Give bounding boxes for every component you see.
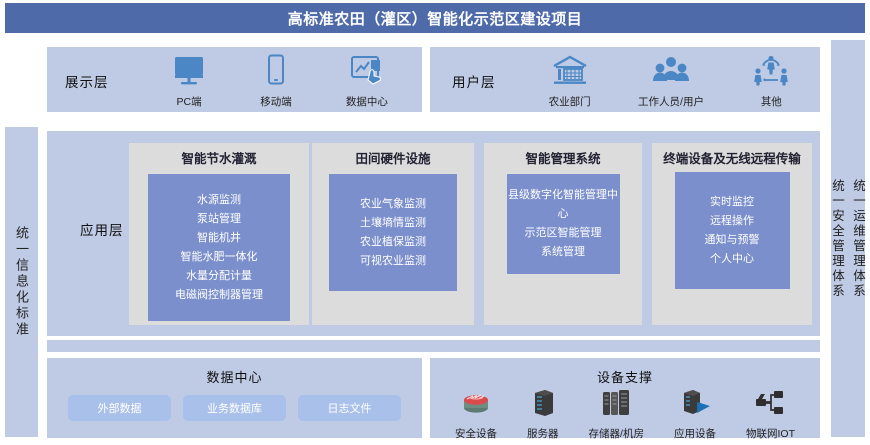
device-item-iot[interactable]: 物联网IOT [746, 388, 795, 441]
user-item-agri-dept[interactable]: 农业部门 [549, 54, 591, 109]
server-icon [528, 388, 558, 423]
app-item[interactable]: 远程操作 [710, 212, 754, 231]
app-item[interactable]: 可视农业监测 [360, 252, 426, 271]
device-item-security-label: 安全设备 [455, 426, 497, 441]
mobile-phone-icon [264, 54, 288, 91]
presentation-item-pc[interactable]: PC端 [172, 54, 206, 109]
device-support-icon-row: 安全设备 服务器 存储器/机房 [430, 388, 820, 441]
app-item[interactable]: 县级数字化智能管理中心 [507, 186, 620, 224]
app-group-management-system: 智能管理系统 县级数字化智能管理中心 示范区智能管理 系统管理 [484, 143, 642, 325]
presentation-item-pc-label: PC端 [177, 94, 202, 109]
app-group-management-system-title: 智能管理系统 [484, 143, 642, 167]
layer-divider-band [47, 340, 820, 352]
presentation-layer-label: 展示层 [65, 71, 109, 91]
app-group-smart-irrigation: 智能节水灌溉 水源监测 泵站管理 智能机井 智能水肥一体化 水量分配计量 电磁阀… [129, 143, 309, 325]
people-cycle-icon [751, 54, 791, 91]
app-group-terminal-transmission-title: 终端设备及无线远程传输 [652, 143, 812, 167]
app-item[interactable]: 个人中心 [710, 250, 754, 269]
app-item[interactable]: 智能水肥一体化 [181, 248, 258, 267]
user-item-other[interactable]: 其他 [751, 54, 791, 109]
page-title: 高标准农田（灌区）智能化示范区建设项目 [5, 3, 865, 33]
app-item[interactable]: 电磁阀控制器管理 [175, 286, 263, 305]
app-item[interactable]: 农业气象监测 [360, 195, 426, 214]
device-item-application-label: 应用设备 [674, 426, 716, 441]
security-management-label: 统一安全管理体系 [828, 179, 847, 299]
firewall-icon [459, 388, 493, 423]
government-building-icon [550, 54, 590, 91]
device-support-title: 设备支撑 [430, 358, 820, 386]
dashboard-touch-icon [350, 54, 384, 91]
right-management-bar: 统一安全管理体系 统一运维管理体系 [831, 40, 865, 437]
user-layer-panel: 用户层 农业部门 [430, 47, 820, 112]
data-center-chip-business-db[interactable]: 业务数据库 [183, 395, 286, 421]
presentation-icon-row: PC端 移动端 数据中心 [145, 53, 415, 109]
app-group-smart-irrigation-items: 水源监测 泵站管理 智能机井 智能水肥一体化 水量分配计量 电磁阀控制器管理 [148, 174, 290, 321]
app-item[interactable]: 农业植保监测 [360, 233, 426, 252]
user-icon-row: 农业部门 工作人员/用户 [525, 53, 815, 109]
application-layer-label: 应用层 [80, 219, 124, 239]
app-item[interactable]: 泵站管理 [197, 210, 241, 229]
user-item-other-label: 其他 [761, 94, 782, 109]
app-group-field-hardware-items: 农业气象监测 土壤墒情监测 农业植保监测 可视农业监测 [329, 174, 457, 291]
operations-management-label: 统一运维管理体系 [849, 179, 868, 299]
user-group-icon [651, 54, 691, 91]
app-group-field-hardware: 田间硬件设施 农业气象监测 土壤墒情监测 农业植保监测 可视农业监测 [312, 143, 474, 325]
presentation-item-mobile-label: 移动端 [260, 94, 292, 109]
device-item-iot-label: 物联网IOT [746, 426, 795, 441]
application-layer-panel: 应用层 智能节水灌溉 水源监测 泵站管理 智能机井 智能水肥一体化 水量分配计量… [47, 131, 820, 336]
app-item[interactable]: 系统管理 [541, 243, 585, 262]
presentation-item-datacenter-label: 数据中心 [346, 94, 388, 109]
device-support-panel: 设备支撑 安全设备 服务器 [430, 358, 820, 438]
user-item-staff[interactable]: 工作人员/用户 [638, 54, 704, 109]
data-center-chip-row: 外部数据 业务数据库 日志文件 [47, 395, 422, 421]
app-item[interactable]: 土壤墒情监测 [360, 214, 426, 233]
storage-rack-icon [598, 388, 634, 423]
device-item-storage[interactable]: 存储器/机房 [589, 388, 644, 441]
data-center-chip-log-file[interactable]: 日志文件 [298, 395, 401, 421]
app-item[interactable]: 实时监控 [710, 193, 754, 212]
left-standard-bar-label: 统一信息化标准 [12, 226, 31, 338]
app-group-terminal-transmission: 终端设备及无线远程传输 实时监控 远程操作 通知与预警 个人中心 [652, 143, 812, 325]
presentation-layer-panel: 展示层 PC端 移动端 数据中心 [47, 47, 422, 112]
device-item-security[interactable]: 安全设备 [455, 388, 497, 441]
app-item[interactable]: 水源监测 [197, 191, 241, 210]
user-layer-label: 用户层 [452, 71, 496, 91]
data-center-panel: 数据中心 外部数据 业务数据库 日志文件 [47, 358, 422, 438]
monitor-icon [172, 54, 206, 91]
app-item[interactable]: 示范区智能管理 [525, 224, 602, 243]
app-item[interactable]: 智能机井 [197, 229, 241, 248]
app-group-field-hardware-title: 田间硬件设施 [312, 143, 474, 167]
user-item-staff-label: 工作人员/用户 [638, 94, 704, 109]
iot-network-icon [752, 388, 788, 423]
left-standard-bar: 统一信息化标准 [5, 127, 38, 437]
device-item-server[interactable]: 服务器 [527, 388, 559, 441]
device-item-server-label: 服务器 [527, 426, 559, 441]
app-item[interactable]: 通知与预警 [705, 231, 760, 250]
presentation-item-datacenter[interactable]: 数据中心 [346, 54, 388, 109]
app-item[interactable]: 水量分配计量 [186, 267, 252, 286]
presentation-item-mobile[interactable]: 移动端 [260, 54, 292, 109]
app-group-management-system-items: 县级数字化智能管理中心 示范区智能管理 系统管理 [507, 174, 620, 274]
data-center-chip-external[interactable]: 外部数据 [68, 395, 171, 421]
application-device-icon [678, 388, 712, 423]
device-item-storage-label: 存储器/机房 [589, 426, 644, 441]
user-item-agri-dept-label: 农业部门 [549, 94, 591, 109]
device-item-application[interactable]: 应用设备 [674, 388, 716, 441]
data-center-title: 数据中心 [47, 358, 422, 386]
app-group-smart-irrigation-title: 智能节水灌溉 [129, 143, 309, 167]
app-group-terminal-transmission-items: 实时监控 远程操作 通知与预警 个人中心 [675, 172, 790, 289]
